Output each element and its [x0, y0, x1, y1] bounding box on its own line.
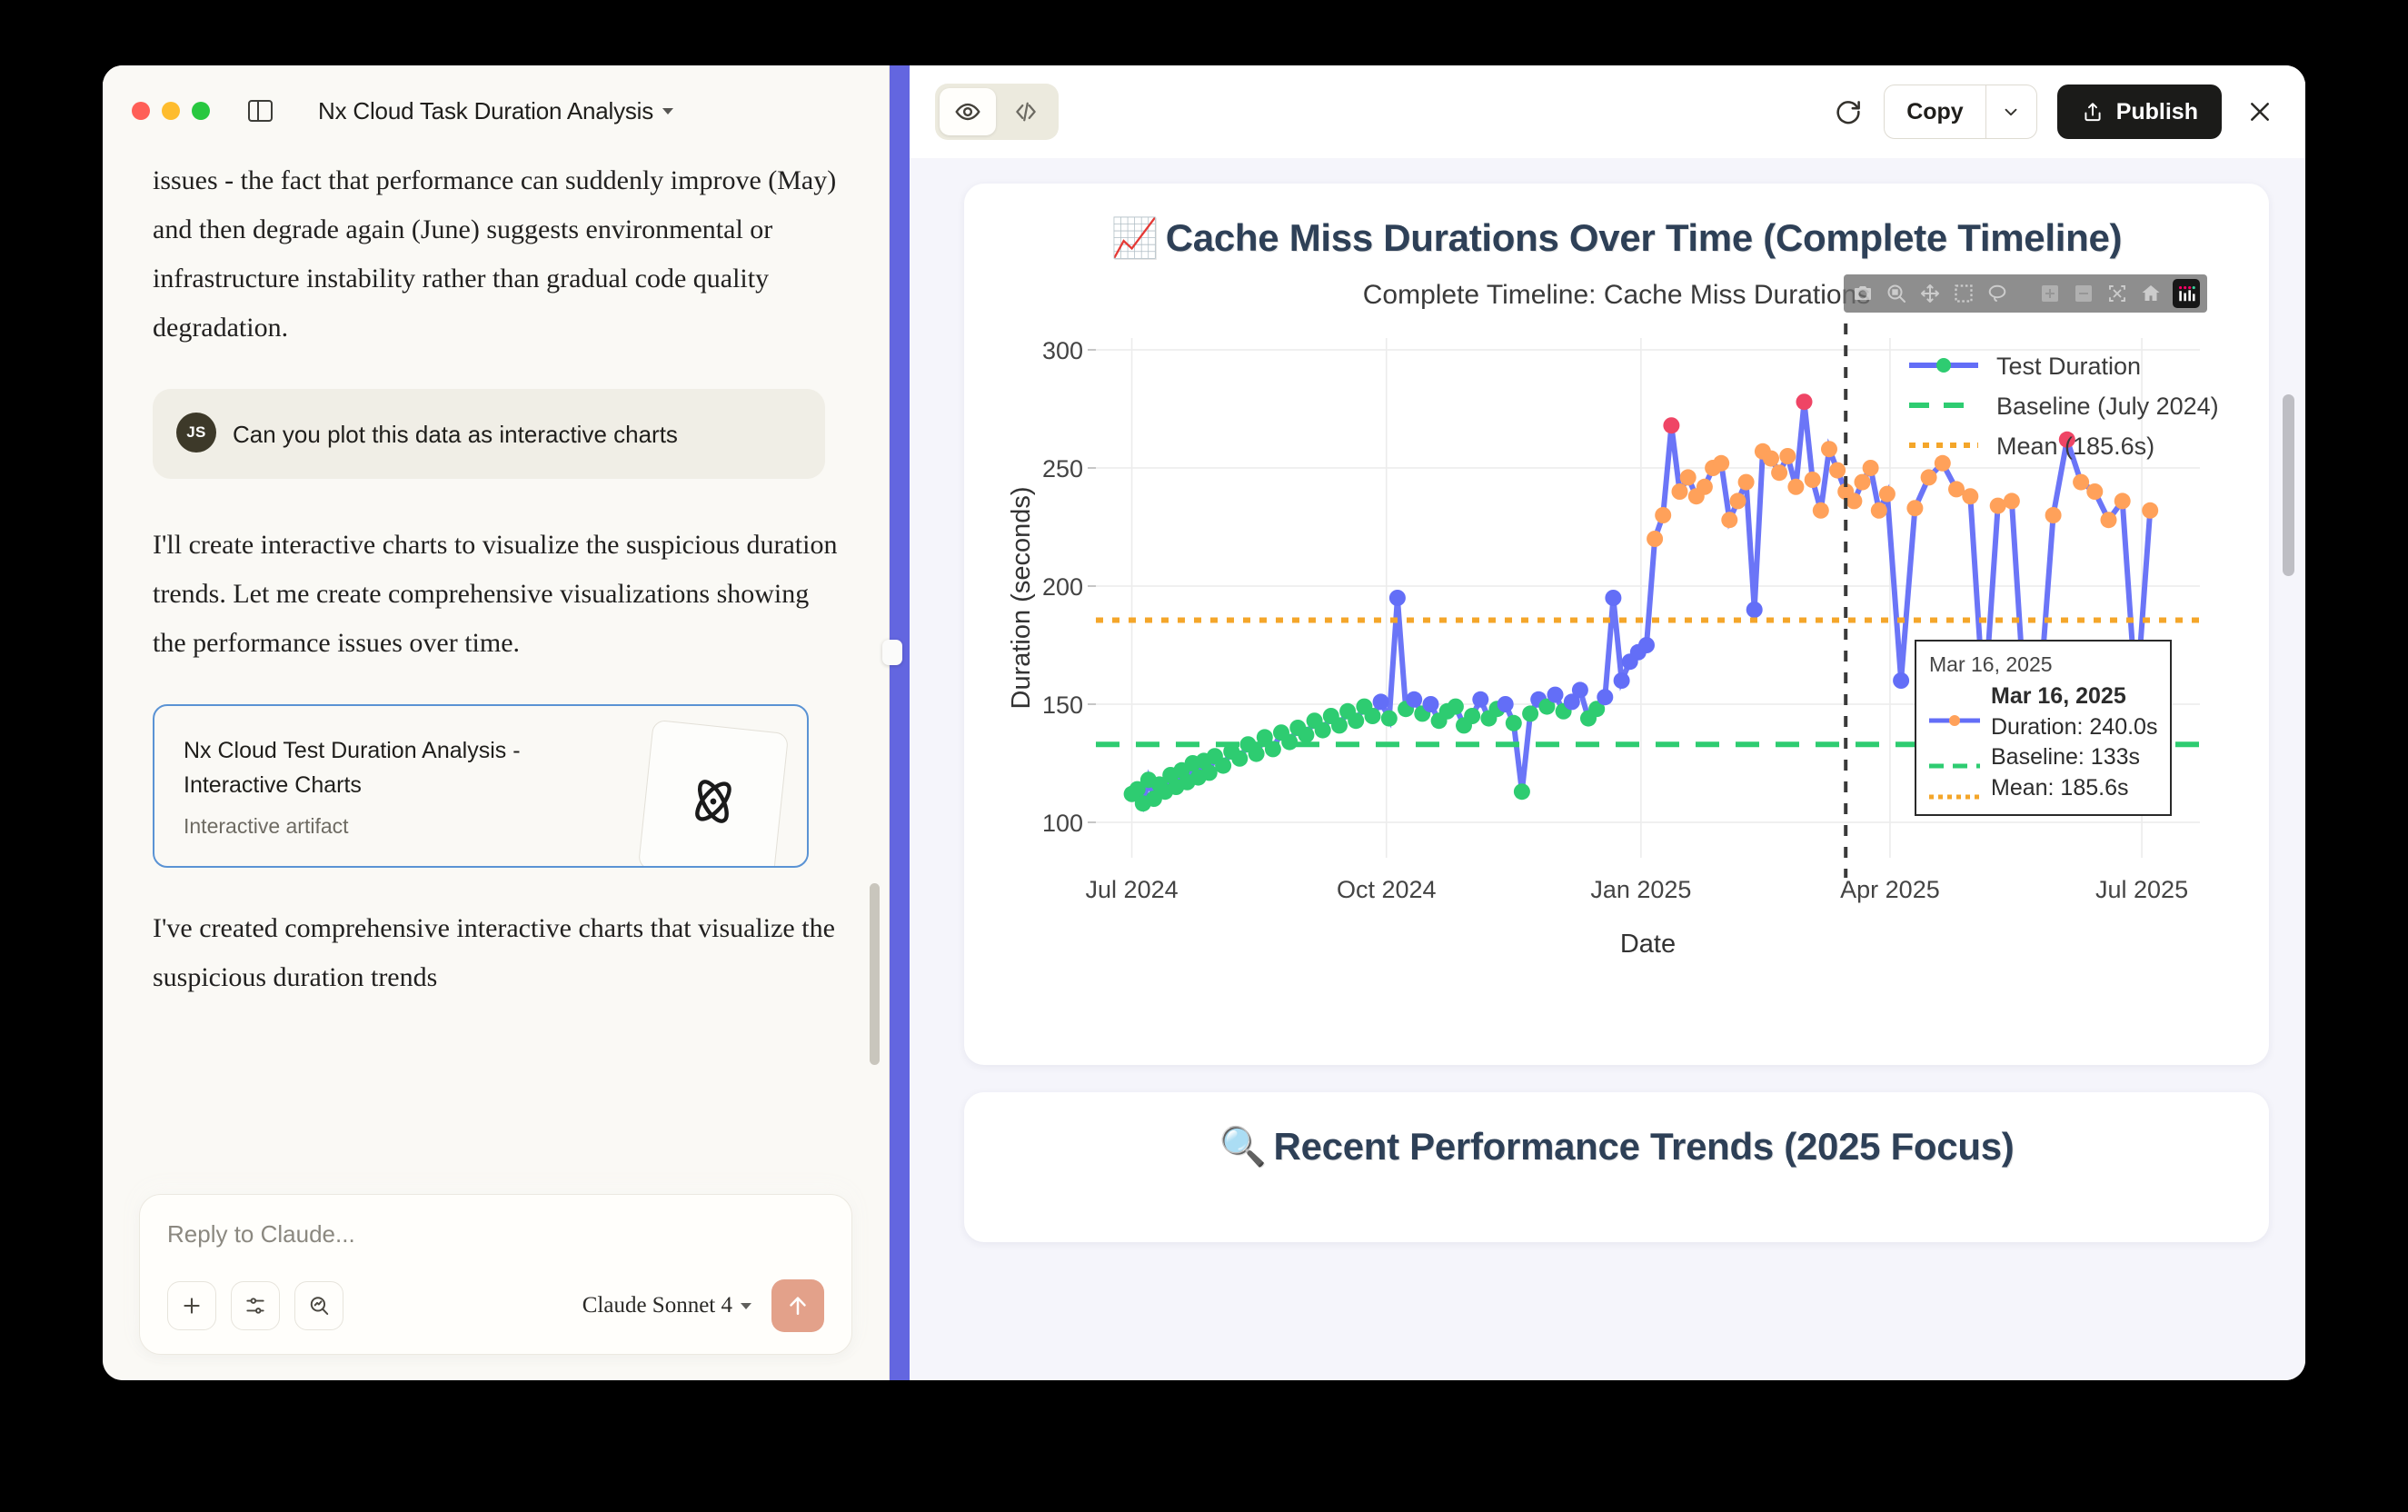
- data-point[interactable]: [1821, 441, 1837, 457]
- autoscale-icon[interactable]: [2105, 282, 2129, 305]
- hover-tooltip-row: Baseline: 133s: [1929, 742, 2157, 773]
- search-trend-icon: [307, 1294, 331, 1318]
- data-point[interactable]: [1423, 696, 1439, 712]
- data-point[interactable]: [1605, 590, 1621, 606]
- data-point[interactable]: [1893, 672, 1909, 689]
- artifact-toolbar: Copy Publish: [910, 65, 2305, 158]
- data-point[interactable]: [1348, 712, 1364, 729]
- plus-icon: [180, 1294, 204, 1318]
- data-point[interactable]: [1638, 637, 1655, 653]
- research-button[interactable]: [294, 1281, 343, 1330]
- reset-axes-icon[interactable]: [2139, 282, 2163, 305]
- chart-card-title-text: Cache Miss Durations Over Time (Complete…: [1166, 216, 2122, 259]
- data-point[interactable]: [1948, 481, 1965, 497]
- window-controls[interactable]: [132, 102, 210, 120]
- data-point[interactable]: [1464, 708, 1480, 724]
- minimize-window-button[interactable]: [162, 102, 180, 120]
- chevron-down-icon: [2001, 102, 2021, 122]
- data-point[interactable]: [1813, 502, 1829, 518]
- data-point[interactable]: [2114, 492, 2131, 509]
- publish-button[interactable]: Publish: [2057, 85, 2222, 139]
- code-icon: [1012, 98, 1040, 125]
- hover-tooltip: Mar 16, 2025 Mar 16, 2025 Duration: 240.…: [1915, 640, 2172, 817]
- data-point[interactable]: [2101, 512, 2117, 528]
- data-point[interactable]: [2142, 502, 2158, 518]
- data-point[interactable]: [1201, 764, 1218, 781]
- refresh-icon: [1833, 96, 1864, 127]
- legend-item-label[interactable]: Mean (185.6s): [1996, 433, 2154, 460]
- data-point[interactable]: [2045, 507, 2062, 523]
- data-point[interactable]: [1829, 462, 1846, 478]
- atom-icon: [682, 770, 744, 831]
- data-point[interactable]: [1763, 450, 1779, 466]
- data-point[interactable]: [1315, 721, 1331, 738]
- user-message: JS Can you plot this data as interactive…: [153, 389, 825, 479]
- artifact-thumbnail: [638, 720, 789, 868]
- data-point[interactable]: [1614, 672, 1630, 689]
- x-axis-label: Date: [1620, 930, 1676, 959]
- close-window-button[interactable]: [132, 102, 150, 120]
- hover-tooltip-row: Mar 16, 2025 Duration: 240.0s: [1929, 681, 2157, 742]
- eye-icon: [954, 98, 981, 125]
- close-artifact-button[interactable]: [2245, 97, 2274, 126]
- data-point[interactable]: [1547, 686, 1564, 702]
- data-point[interactable]: [1962, 488, 1978, 504]
- chart-card-2-title: 🔍Recent Performance Trends (2025 Focus): [1000, 1123, 2233, 1170]
- data-point[interactable]: [1373, 693, 1389, 710]
- hover-tooltip-mean: Mean: 185.6s: [1991, 773, 2129, 804]
- data-point[interactable]: [1249, 745, 1265, 761]
- artifact-scrollbar[interactable]: [2283, 394, 2294, 576]
- chart-card-title: 📈Cache Miss Durations Over Time (Complet…: [1000, 214, 2233, 262]
- legend-item-label[interactable]: Baseline (July 2024): [1996, 393, 2219, 420]
- chat-scrollbar[interactable]: [870, 883, 880, 1065]
- hover-tooltip-duration-text: Duration: 240.0s: [1991, 714, 2157, 740]
- data-point[interactable]: [1522, 705, 1538, 721]
- data-point[interactable]: [1721, 512, 1737, 528]
- x-tick-label: Jul 2024: [1086, 876, 1179, 903]
- zoom-in-icon[interactable]: [2038, 282, 2062, 305]
- data-point[interactable]: [1663, 417, 1679, 433]
- data-point[interactable]: [1846, 492, 1862, 509]
- pane-resize-handle[interactable]: [890, 65, 910, 1380]
- magnifying-glass-icon: 🔍: [1219, 1125, 1267, 1168]
- tools-button[interactable]: [231, 1281, 280, 1330]
- data-point[interactable]: [1935, 454, 1951, 471]
- share-upload-icon: [2081, 100, 2105, 124]
- sidebar-toggle-icon[interactable]: [248, 100, 273, 122]
- box-select-icon[interactable]: [1952, 282, 1975, 305]
- data-point[interactable]: [1506, 714, 1522, 731]
- publish-button-label: Publish: [2116, 99, 2198, 125]
- chart-legend: Test DurationBaseline (July 2024)Mean (1…: [1909, 353, 2219, 460]
- data-point[interactable]: [1697, 478, 1713, 494]
- chat-pane: Nx Cloud Task Duration Analysis issues -…: [103, 65, 890, 1380]
- data-point[interactable]: [1406, 691, 1422, 707]
- assistant-paragraph-top: issues - the fact that performance can s…: [153, 156, 839, 353]
- x-tick-label: Jul 2025: [2095, 876, 2188, 903]
- legend-item-label[interactable]: Test Duration: [1996, 353, 2141, 380]
- data-point[interactable]: [1787, 478, 1804, 494]
- data-point[interactable]: [1498, 696, 1514, 712]
- data-point[interactable]: [1863, 460, 1879, 476]
- artifact-content-scroll[interactable]: 📈Cache Miss Durations Over Time (Complet…: [910, 158, 2305, 1380]
- series-swatch-baseline: [1929, 751, 1980, 764]
- tab-preview[interactable]: [940, 88, 996, 135]
- y-tick-label: 200: [1042, 573, 1083, 601]
- x-tick-label: Apr 2025: [1840, 876, 1940, 903]
- data-point[interactable]: [1680, 469, 1697, 485]
- data-point[interactable]: [1647, 531, 1663, 547]
- copy-button-group[interactable]: Copy: [1884, 85, 2037, 139]
- y-tick-label: 150: [1042, 691, 1083, 719]
- data-point[interactable]: [1514, 783, 1530, 800]
- artifact-pane: Copy Publish: [910, 65, 2305, 1380]
- data-point[interactable]: [1389, 590, 1406, 606]
- data-point[interactable]: [1365, 708, 1381, 724]
- send-button[interactable]: [771, 1279, 824, 1332]
- zoom-box-icon[interactable]: [1885, 282, 1908, 305]
- data-point[interactable]: [1597, 689, 1613, 705]
- data-point[interactable]: [1215, 757, 1231, 773]
- dotted-swatch-icon: [1929, 791, 1980, 803]
- plot-subtitle: Complete Timeline: Cache Miss Durations: [1363, 280, 1871, 311]
- copy-button[interactable]: Copy: [1885, 85, 1985, 138]
- data-point[interactable]: [1730, 492, 1746, 509]
- data-point[interactable]: [1655, 507, 1671, 523]
- data-point[interactable]: [1738, 473, 1755, 490]
- chevron-down-icon: [662, 108, 673, 114]
- data-point[interactable]: [1779, 448, 1796, 464]
- data-point[interactable]: [1855, 473, 1871, 490]
- data-point[interactable]: [1448, 698, 1464, 714]
- chevron-down-icon: [741, 1303, 751, 1309]
- refresh-button[interactable]: [1833, 96, 1864, 127]
- data-point[interactable]: [1298, 726, 1314, 742]
- arrow-up-icon: [784, 1292, 811, 1319]
- hover-tooltip-row: Mean: 185.6s: [1929, 773, 2157, 804]
- data-point[interactable]: [1771, 464, 1787, 481]
- y-tick-label: 250: [1042, 455, 1083, 482]
- plotly-figure[interactable]: Complete Timeline: Cache Miss Durations: [1000, 274, 2233, 1038]
- camera-icon[interactable]: [1851, 282, 1875, 305]
- series-swatch-duration: [1929, 706, 1980, 719]
- zoom-out-icon[interactable]: [2072, 282, 2095, 305]
- x-tick-label: Oct 2024: [1337, 876, 1437, 903]
- maximize-window-button[interactable]: [192, 102, 210, 120]
- composer-toolbar: Claude Sonnet 4: [167, 1279, 824, 1332]
- sliders-icon: [244, 1294, 267, 1318]
- series-swatch-mean: [1929, 782, 1980, 795]
- view-mode-toggle[interactable]: [935, 84, 1059, 140]
- chart-card-2-title-text: Recent Performance Trends (2025 Focus): [1274, 1125, 2015, 1168]
- data-point[interactable]: [2004, 492, 2020, 509]
- hover-tooltip-date: Mar 16, 2025: [1991, 683, 2126, 709]
- message-composer[interactable]: Reply to Claude...: [139, 1194, 852, 1355]
- data-point[interactable]: [1381, 710, 1398, 726]
- close-icon: [2245, 97, 2274, 126]
- data-point[interactable]: [1672, 483, 1688, 500]
- assistant-reply: I'll create interactive charts to visual…: [153, 521, 839, 668]
- chat-title[interactable]: Nx Cloud Task Duration Analysis: [318, 97, 673, 125]
- data-point[interactable]: [2073, 473, 2089, 490]
- data-point[interactable]: [1796, 393, 1813, 410]
- model-selector[interactable]: Claude Sonnet 4: [582, 1293, 751, 1318]
- x-tick-label: Jan 2025: [1590, 876, 1691, 903]
- app-window: Nx Cloud Task Duration Analysis issues -…: [103, 65, 2305, 1380]
- data-point[interactable]: [1331, 717, 1348, 733]
- dashed-swatch-icon: [1929, 760, 1980, 772]
- user-message-text: Can you plot this data as interactive ch…: [233, 413, 678, 453]
- data-point[interactable]: [1713, 454, 1729, 471]
- y-axis-label: Duration (seconds): [1007, 486, 1036, 709]
- data-point[interactable]: [1906, 500, 1923, 516]
- y-tick-label: 300: [1042, 337, 1083, 364]
- data-point[interactable]: [1879, 485, 1896, 502]
- data-point[interactable]: [1572, 681, 1588, 698]
- data-point[interactable]: [2086, 483, 2103, 500]
- artifact-card-subtitle: Interactive artifact: [184, 814, 602, 839]
- chat-titlebar: Nx Cloud Task Duration Analysis: [103, 65, 889, 156]
- pane-resize-grip[interactable]: [882, 640, 902, 665]
- chart-card-recent: 🔍Recent Performance Trends (2025 Focus): [964, 1092, 2269, 1243]
- data-point[interactable]: [1231, 750, 1248, 766]
- assistant-reply-2: I've created comprehensive interactive c…: [153, 904, 839, 1002]
- model-selector-label: Claude Sonnet 4: [582, 1293, 732, 1318]
- hover-tooltip-baseline: Baseline: 133s: [1991, 742, 2140, 773]
- artifact-card-title: Nx Cloud Test Duration Analysis - Intera…: [184, 733, 602, 802]
- reply-input[interactable]: Reply to Claude...: [167, 1220, 824, 1248]
- hover-tooltip-header: Mar 16, 2025: [1929, 651, 2157, 679]
- data-point[interactable]: [1746, 602, 1763, 618]
- data-point[interactable]: [1805, 472, 1821, 488]
- tab-code[interactable]: [998, 88, 1054, 135]
- line-marker-swatch-icon: [1929, 714, 1980, 727]
- plotly-modebar[interactable]: [1844, 274, 2207, 313]
- pan-icon[interactable]: [1918, 282, 1942, 305]
- y-tick-label: 100: [1042, 810, 1083, 837]
- data-point[interactable]: [1472, 691, 1488, 707]
- chat-title-label: Nx Cloud Task Duration Analysis: [318, 97, 653, 125]
- data-point[interactable]: [1281, 733, 1298, 750]
- copy-dropdown-button[interactable]: [1985, 85, 2036, 138]
- data-point[interactable]: [1921, 469, 1937, 485]
- chart-increasing-icon: 📈: [1111, 216, 1159, 259]
- artifact-card[interactable]: Nx Cloud Test Duration Analysis - Intera…: [153, 704, 809, 868]
- lasso-select-icon[interactable]: [1985, 282, 2009, 305]
- data-point[interactable]: [1871, 502, 1887, 518]
- artifact-toolbar-right: Copy Publish: [1833, 85, 2274, 139]
- plotly-logo-icon[interactable]: [2173, 279, 2200, 308]
- chart-card-timeline: 📈Cache Miss Durations Over Time (Complet…: [964, 184, 2269, 1065]
- avatar: JS: [176, 413, 216, 453]
- add-attachment-button[interactable]: [167, 1281, 216, 1330]
- hover-tooltip-duration: Mar 16, 2025 Duration: 240.0s: [1991, 681, 2157, 742]
